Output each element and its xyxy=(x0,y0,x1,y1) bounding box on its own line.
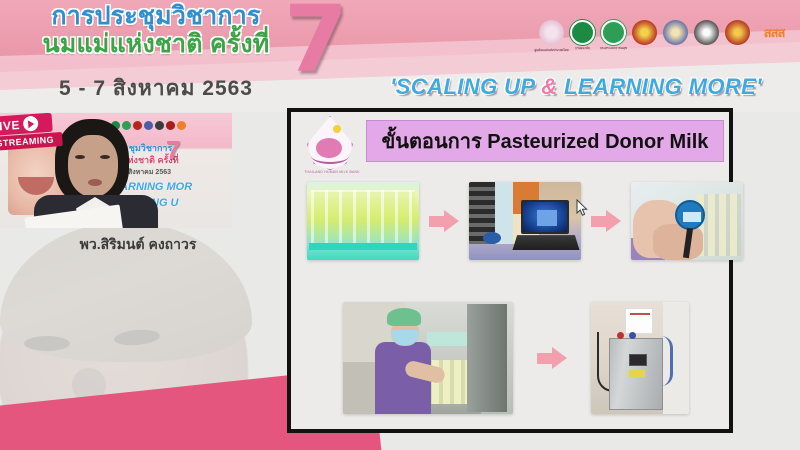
photo-nurse-pasteurizing xyxy=(343,302,513,414)
university-emblem-logo xyxy=(663,20,688,45)
photo-hand-thermometer xyxy=(631,182,743,260)
slide-content-panel: THAILAND HUMAN MILK BANK ขั้นตอนการ Past… xyxy=(287,108,733,433)
process-row-top xyxy=(307,182,743,260)
thai-breastfeeding-centre-logo: ศูนย์นมแม่แห่งประเทศไทย xyxy=(539,20,564,45)
conference-title-line2: นมแม่แห่งชาติ ครั้งที่ xyxy=(22,30,290,60)
speaker-eye-left xyxy=(75,155,85,159)
speaker-name-label: พว.สิริมนต์ คงถาวร xyxy=(20,234,256,256)
milk-droplet-dot-icon xyxy=(333,125,341,133)
human-milk-bank-logo: THAILAND HUMAN MILK BANK xyxy=(299,114,363,178)
pip-poster-number: 7 xyxy=(166,137,180,163)
conference-title: การประชุมวิชาการ นมแม่แห่งชาติ ครั้งที่ xyxy=(22,2,290,59)
streaming-label: STREAMING xyxy=(0,132,62,151)
logo-caption: กระทรวงสาธารณสุข xyxy=(600,46,627,51)
arrow-right-icon xyxy=(591,210,621,232)
live-streaming-badge: LIVE STREAMING xyxy=(0,113,55,159)
tagline-prefix: 'SCALING UP xyxy=(390,74,541,99)
royal-emblem-logo xyxy=(632,20,657,45)
cradling-hands-icon xyxy=(311,148,349,164)
edition-number: 7 xyxy=(284,0,346,86)
photo-pasteurizer-machine xyxy=(591,302,689,414)
webcam-pip-video[interactable]: การประชุมวิชาการ นมแม่แห่งชาติ ครั้งที่ … xyxy=(0,113,232,228)
tagline-suffix: LEARNING MORE' xyxy=(557,74,761,99)
slide-presentation-screen: การประชุมวิชาการ นมแม่แห่งชาติ ครั้งที่ … xyxy=(0,0,800,450)
slide-title: ขั้นตอนการ Pasteurized Donor Milk xyxy=(366,120,724,162)
ministry-of-public-health-logo: กรมอนามัย xyxy=(570,20,595,45)
speaker-face xyxy=(68,135,118,197)
logo-caption: กรมอนามัย xyxy=(575,46,590,51)
play-icon xyxy=(22,116,38,132)
live-label: LIVE xyxy=(0,117,20,133)
conference-title-line1: การประชุมวิชาการ xyxy=(22,2,290,32)
logo-caption: ศูนย์นมแม่แห่งประเทศไทย xyxy=(534,48,568,53)
photo-milk-bottles-rack xyxy=(307,182,419,260)
process-row-bottom xyxy=(343,302,689,414)
red-emblem-logo xyxy=(725,20,750,45)
logo-caption: THAILAND HUMAN MILK BANK xyxy=(301,170,363,174)
tagline-ampersand: & xyxy=(541,74,557,99)
arrow-right-icon xyxy=(429,210,459,232)
department-of-health-logo: กระทรวงสาธารณสุข xyxy=(601,20,626,45)
thaihealth-sss-logo: สสส xyxy=(756,20,792,45)
photo-laptop-workstation xyxy=(469,182,581,260)
speaker-eye-right xyxy=(100,155,110,159)
conference-tagline: 'SCALING UP & LEARNING MORE' xyxy=(360,74,792,100)
speaker-mouth xyxy=(88,179,102,186)
arrow-right-icon xyxy=(537,347,567,369)
garuda-emblem-logo xyxy=(694,20,719,45)
mouse-cursor-icon xyxy=(576,199,588,217)
conference-date: 5 - 7 สิงหาคม 2563 xyxy=(22,72,290,105)
organization-logos-strip: ศูนย์นมแม่แห่งประเทศไทย กรมอนามัย กระทรว… xyxy=(539,20,792,45)
